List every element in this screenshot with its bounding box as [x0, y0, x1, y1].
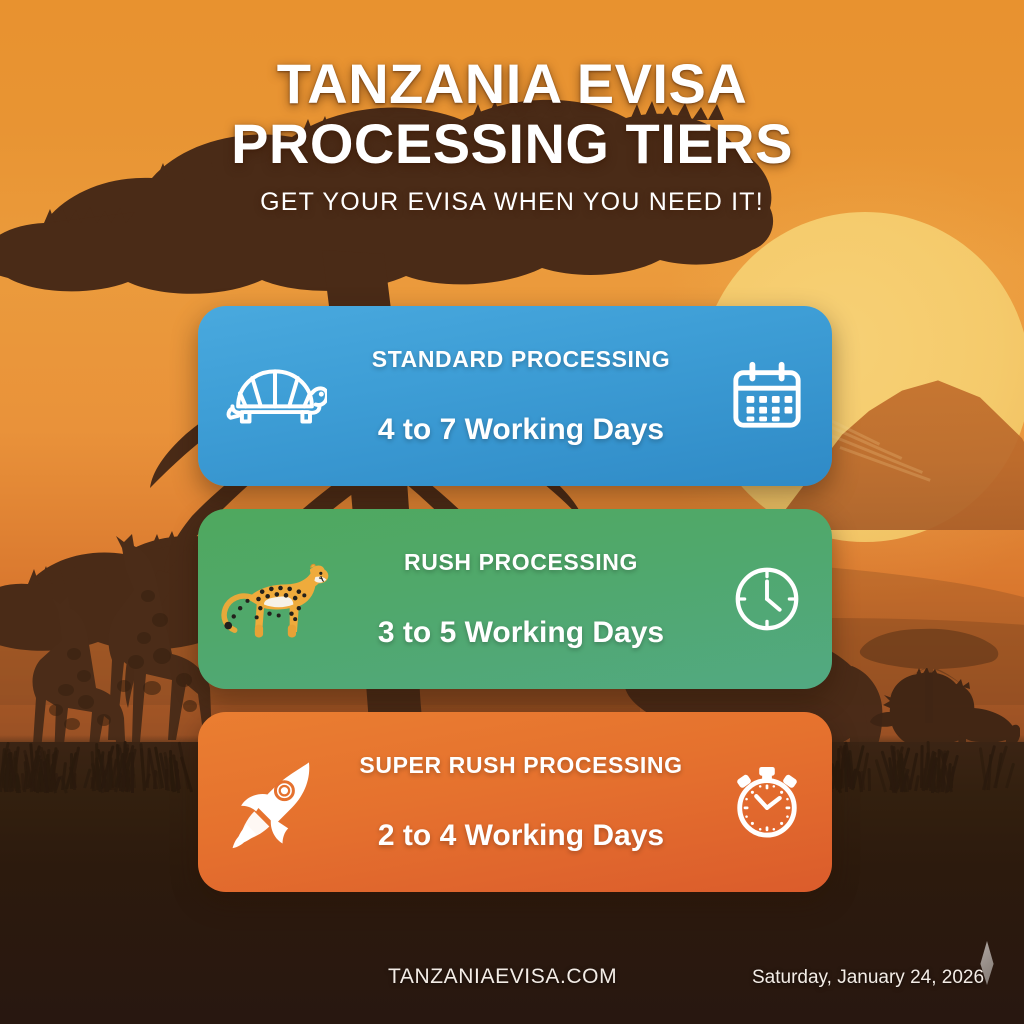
tier-duration: 2 to 4 Working Days: [378, 819, 664, 853]
processing-tier-list: STANDARD PROCESSING 4 to 7 Working Days: [0, 0, 1024, 1024]
cheetah-icon: [220, 553, 330, 645]
tier-title: RUSH PROCESSING: [404, 549, 638, 576]
tier-card-text-standard: STANDARD PROCESSING 4 to 7 Working Days: [330, 306, 712, 486]
infographic-poster: TANZANIA EVISA PROCESSING TIERS GET YOUR…: [0, 0, 1024, 1024]
footer-date: Saturday, January 24, 2026: [752, 967, 984, 989]
poster-footer: TANZANIAEVISA.COM Saturday, January 24, …: [0, 965, 1024, 1015]
tier-card-text-rush: RUSH PROCESSING 3 to 5 Working Days: [330, 509, 712, 689]
tier-card-standard[interactable]: STANDARD PROCESSING 4 to 7 Working Days: [198, 306, 832, 486]
tier-title: SUPER RUSH PROCESSING: [359, 752, 682, 779]
footer-website: TANZANIAEVISA.COM: [388, 965, 617, 989]
tier-card-super-rush[interactable]: SUPER RUSH PROCESSING 2 to 4 Working Day…: [198, 712, 832, 892]
stopwatch-icon: [724, 759, 810, 845]
tier-title: STANDARD PROCESSING: [372, 346, 671, 373]
tier-card-text-super-rush: SUPER RUSH PROCESSING 2 to 4 Working Day…: [330, 712, 712, 892]
calendar-icon: [724, 353, 810, 439]
turtle-icon: [220, 350, 330, 442]
clock-icon: [724, 556, 810, 642]
tier-duration: 4 to 7 Working Days: [378, 413, 664, 447]
rocket-icon: [220, 756, 330, 848]
tier-duration: 3 to 5 Working Days: [378, 616, 664, 650]
tier-card-rush[interactable]: RUSH PROCESSING 3 to 5 Working Days: [198, 509, 832, 689]
